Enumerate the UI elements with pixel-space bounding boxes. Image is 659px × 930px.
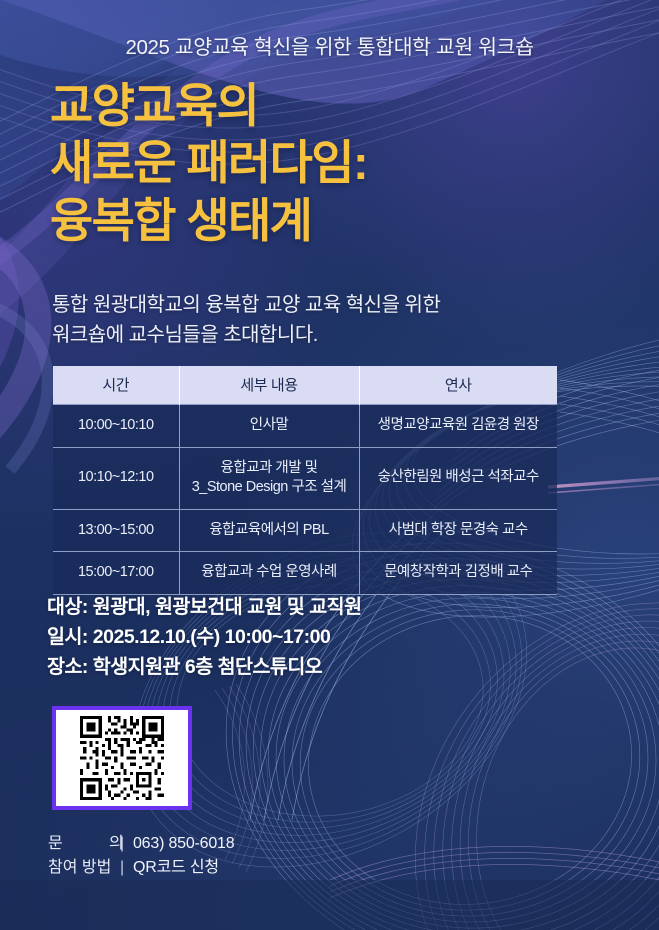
cell-detail-line-1: 인사말 (183, 416, 356, 436)
cell-detail: 융합교육에서의 PBL (179, 509, 359, 552)
lead-line-1: 통합 원광대학교의 융복합 교양 교육 혁신을 위한 (52, 290, 440, 320)
table-header-row: 시간 세부 내용 연사 (53, 366, 557, 405)
cell-detail: 융합교과 수업 운영사례 (179, 552, 359, 595)
contact-row-inquiry: 문 의 | 063) 850-6018 (48, 832, 234, 856)
cell-time: 10:00~10:10 (53, 405, 179, 448)
schedule-table-wrapper: 시간 세부 내용 연사 10:00~10:10 인사말 생명교양교육원 김윤경 … (53, 366, 557, 595)
lead-line-2: 워크숍에 교수님들을 초대합니다. (52, 320, 440, 350)
info-place: 장소: 학생지원관 6층 첨단스튜디오 (47, 652, 362, 682)
contact-phone: 063) 850-6018 (133, 832, 235, 856)
cell-time: 13:00~15:00 (53, 509, 179, 552)
cell-speaker: 사범대 학장 문경숙 교수 (359, 509, 557, 552)
table-row: 10:00~10:10 인사말 생명교양교육원 김윤경 원장 (53, 405, 557, 448)
workshop-poster: 2025 교양교육 혁신을 위한 통합대학 교원 워크숍 교양교육의 새로운 패… (0, 0, 659, 930)
poster-lead: 통합 원광대학교의 융복합 교양 교육 혁신을 위한 워크숍에 교수님들을 초대… (52, 290, 440, 351)
qr-code[interactable] (52, 706, 192, 810)
contact-separator: | (120, 856, 124, 880)
table-row: 10:10~12:10 융합교과 개발 및 3_Stone Design 구조 … (53, 447, 557, 509)
poster-kicker: 2025 교양교육 혁신을 위한 통합대학 교원 워크숍 (0, 30, 659, 60)
contact-apply-method: QR코드 신청 (133, 856, 219, 880)
contact-separator: | (120, 832, 124, 856)
info-target: 대상: 원광대, 원광보건대 교원 및 교직원 (47, 592, 362, 622)
title-line-1: 교양교육의 (50, 77, 367, 134)
contact-label-inquiry: 문 의 (48, 832, 120, 856)
cell-detail-line-2: 3_Stone Design 구조 설계 (183, 478, 356, 498)
title-line-3: 융복합 생태계 (50, 192, 367, 249)
column-header-speaker: 연사 (359, 366, 557, 405)
contact-block: 문 의 | 063) 850-6018 참여 방법 | QR코드 신청 (48, 832, 234, 881)
cell-detail-line-1: 융합교과 개발 및 (183, 459, 356, 479)
schedule-table: 시간 세부 내용 연사 10:00~10:10 인사말 생명교양교육원 김윤경 … (53, 366, 557, 595)
column-header-time: 시간 (53, 366, 179, 405)
cell-time: 10:10~12:10 (53, 447, 179, 509)
cell-time: 15:00~17:00 (53, 552, 179, 595)
column-header-detail: 세부 내용 (179, 366, 359, 405)
cell-speaker: 숭산한림원 배성근 석좌교수 (359, 447, 557, 509)
qr-code-image (59, 713, 185, 803)
cell-detail: 융합교과 개발 및 3_Stone Design 구조 설계 (179, 447, 359, 509)
cell-detail: 인사말 (179, 405, 359, 448)
cell-detail-line-1: 융합교육에서의 PBL (183, 521, 356, 541)
title-line-2: 새로운 패러다임: (50, 134, 367, 191)
table-row: 13:00~15:00 융합교육에서의 PBL 사범대 학장 문경숙 교수 (53, 509, 557, 552)
poster-title: 교양교육의 새로운 패러다임: 융복합 생태계 (50, 77, 367, 249)
cell-speaker: 문예창작학과 김정배 교수 (359, 552, 557, 595)
info-datetime: 일시: 2025.12.10.(수) 10:00~17:00 (47, 622, 362, 652)
cell-speaker: 생명교양교육원 김윤경 원장 (359, 405, 557, 448)
contact-label-apply: 참여 방법 (48, 856, 120, 880)
cell-detail-line-1: 융합교과 수업 운영사례 (183, 563, 356, 583)
contact-row-apply: 참여 방법 | QR코드 신청 (48, 856, 234, 880)
table-row: 15:00~17:00 융합교과 수업 운영사례 문예창작학과 김정배 교수 (53, 552, 557, 595)
event-info: 대상: 원광대, 원광보건대 교원 및 교직원 일시: 2025.12.10.(… (47, 592, 362, 683)
